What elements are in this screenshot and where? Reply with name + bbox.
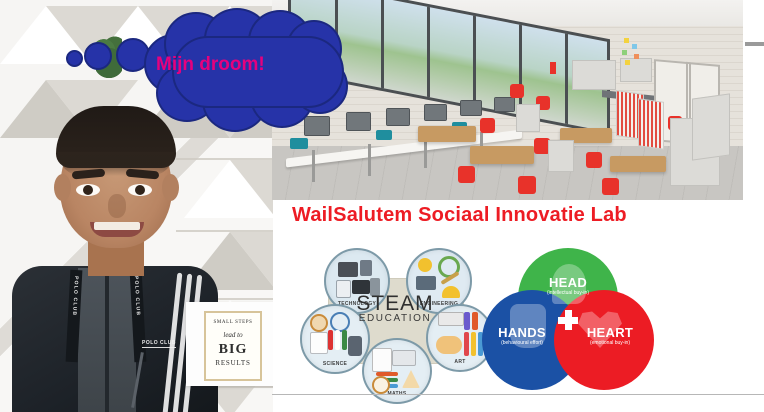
venn-title-heart: HEART	[568, 326, 652, 339]
group-table	[418, 126, 476, 142]
chair	[602, 178, 619, 195]
jacket-brand-left: POLO CLUB	[71, 276, 79, 317]
right-edge-marker	[745, 42, 764, 46]
sticky-note	[625, 60, 630, 65]
venn-title-head: HEAD	[528, 276, 608, 289]
jacket-brand-right: POLO CLUB	[133, 276, 141, 317]
mobile-cart	[516, 104, 540, 132]
venn-subtitle-head: (intellectual buy-in)	[528, 290, 608, 296]
steam-node-label: SCIENCE	[302, 361, 368, 367]
venn-label-heart: HEART (emotional buy-in)	[568, 326, 652, 346]
wall-panel-triangle	[230, 160, 273, 218]
sticky-note	[634, 54, 639, 59]
thought-dot-small	[66, 50, 83, 67]
monitor	[424, 104, 447, 121]
venn-label-head: HEAD (intellectual buy-in)	[528, 276, 608, 296]
poster-line-4: RESULTS	[206, 359, 260, 367]
monitor	[346, 112, 371, 131]
page-title: WailSalutem Sociaal Innovatie Lab	[292, 204, 627, 227]
poster-line-2: lead to	[206, 331, 260, 339]
thought-bubble-text: Mijn droom!	[156, 54, 306, 76]
monitor	[386, 108, 410, 126]
poster-mat: SMALL STEPS lead to BIG RESULTS	[204, 311, 262, 381]
monitor	[460, 100, 482, 116]
head-hands-heart-venn: HEAD (intellectual buy-in) HANDS (behavi…	[482, 248, 657, 393]
sticky-note	[624, 38, 629, 43]
eye-right	[128, 184, 152, 196]
fire-alarm	[550, 62, 556, 74]
hood-drawstring-left: POLO CLUB	[66, 270, 83, 363]
poster-line-1: SMALL STEPS	[206, 320, 260, 325]
eye-left	[76, 184, 100, 196]
jacket-zipper	[105, 272, 109, 412]
mouth	[90, 222, 144, 237]
sticky-note	[632, 44, 637, 49]
radiator	[638, 98, 664, 150]
wall-display	[572, 60, 616, 90]
hood-drawstring-right: POLO CLUB	[130, 270, 147, 363]
venn-label-hands: HANDS (behavioural effort)	[480, 326, 564, 346]
chair	[586, 152, 602, 168]
chair	[458, 166, 475, 183]
venn-title-hands: HANDS	[480, 326, 564, 339]
chair	[480, 118, 495, 133]
monitor	[494, 97, 515, 112]
bottom-divider-line	[272, 394, 764, 395]
slide-canvas: POLO CLUB POLO CLUB POLO CLUB	[0, 0, 764, 412]
mobile-cart	[548, 140, 574, 172]
thought-bubble: Mijn droom!	[60, 8, 310, 136]
steam-education-diagram: TECHNOLOGY ENGINEERING SCIENCE	[300, 248, 490, 398]
group-table	[470, 146, 534, 164]
thought-dot-medium	[84, 42, 112, 70]
wall-panel-triangle	[230, 232, 273, 290]
ear-left	[54, 174, 71, 201]
venn-subtitle-heart: (emotional buy-in)	[568, 340, 652, 346]
equipment-box	[290, 138, 308, 149]
chair	[510, 84, 524, 98]
nose	[108, 194, 126, 218]
sticky-note	[622, 50, 627, 55]
venn-subtitle-hands: (behavioural effort)	[480, 340, 564, 346]
steam-center-text: STEAM EDUCATION	[340, 292, 450, 324]
equipment-box	[376, 130, 392, 140]
chair	[518, 176, 536, 194]
group-table	[610, 156, 666, 172]
framed-poster: SMALL STEPS lead to BIG RESULTS	[186, 302, 273, 386]
poster-line-3: BIG	[206, 342, 260, 358]
storage-cabinet	[692, 93, 730, 160]
ear-right	[162, 174, 179, 201]
